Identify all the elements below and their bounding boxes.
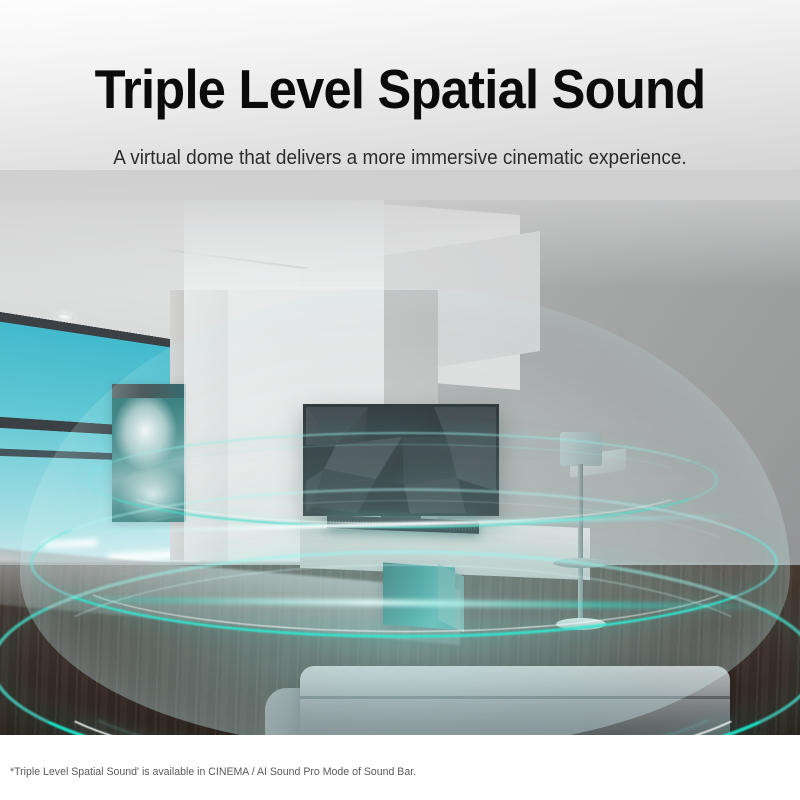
artwork-top-band: [112, 384, 186, 398]
footnote-text: *Triple Level Spatial Sound' is availabl…: [10, 765, 416, 780]
page-title: Triple Level Spatial Sound: [32, 58, 768, 120]
footnote-section: *Triple Level Spatial Sound' is availabl…: [0, 735, 800, 800]
hero-image: [0, 170, 800, 735]
floor-lamp-shade: [560, 432, 602, 466]
wall-artwork: [112, 384, 186, 522]
sofa: [300, 666, 730, 735]
subwoofer-side-panel: [438, 564, 464, 633]
television: [303, 404, 499, 516]
floor-lamp-base: [556, 618, 606, 630]
floor-lamp-pole: [578, 464, 583, 624]
floor-lamp-tray: [553, 558, 609, 568]
tv-screen: [306, 407, 496, 513]
page-subtitle: A virtual dome that delivers a more imme…: [20, 144, 780, 172]
ceiling-downlight-icon: [56, 313, 74, 321]
header-section: Triple Level Spatial Sound A virtual dom…: [0, 0, 800, 200]
promo-page: Triple Level Spatial Sound A virtual dom…: [0, 0, 800, 800]
tv-polygon-wallpaper: [306, 407, 496, 513]
cloud: [43, 539, 98, 550]
